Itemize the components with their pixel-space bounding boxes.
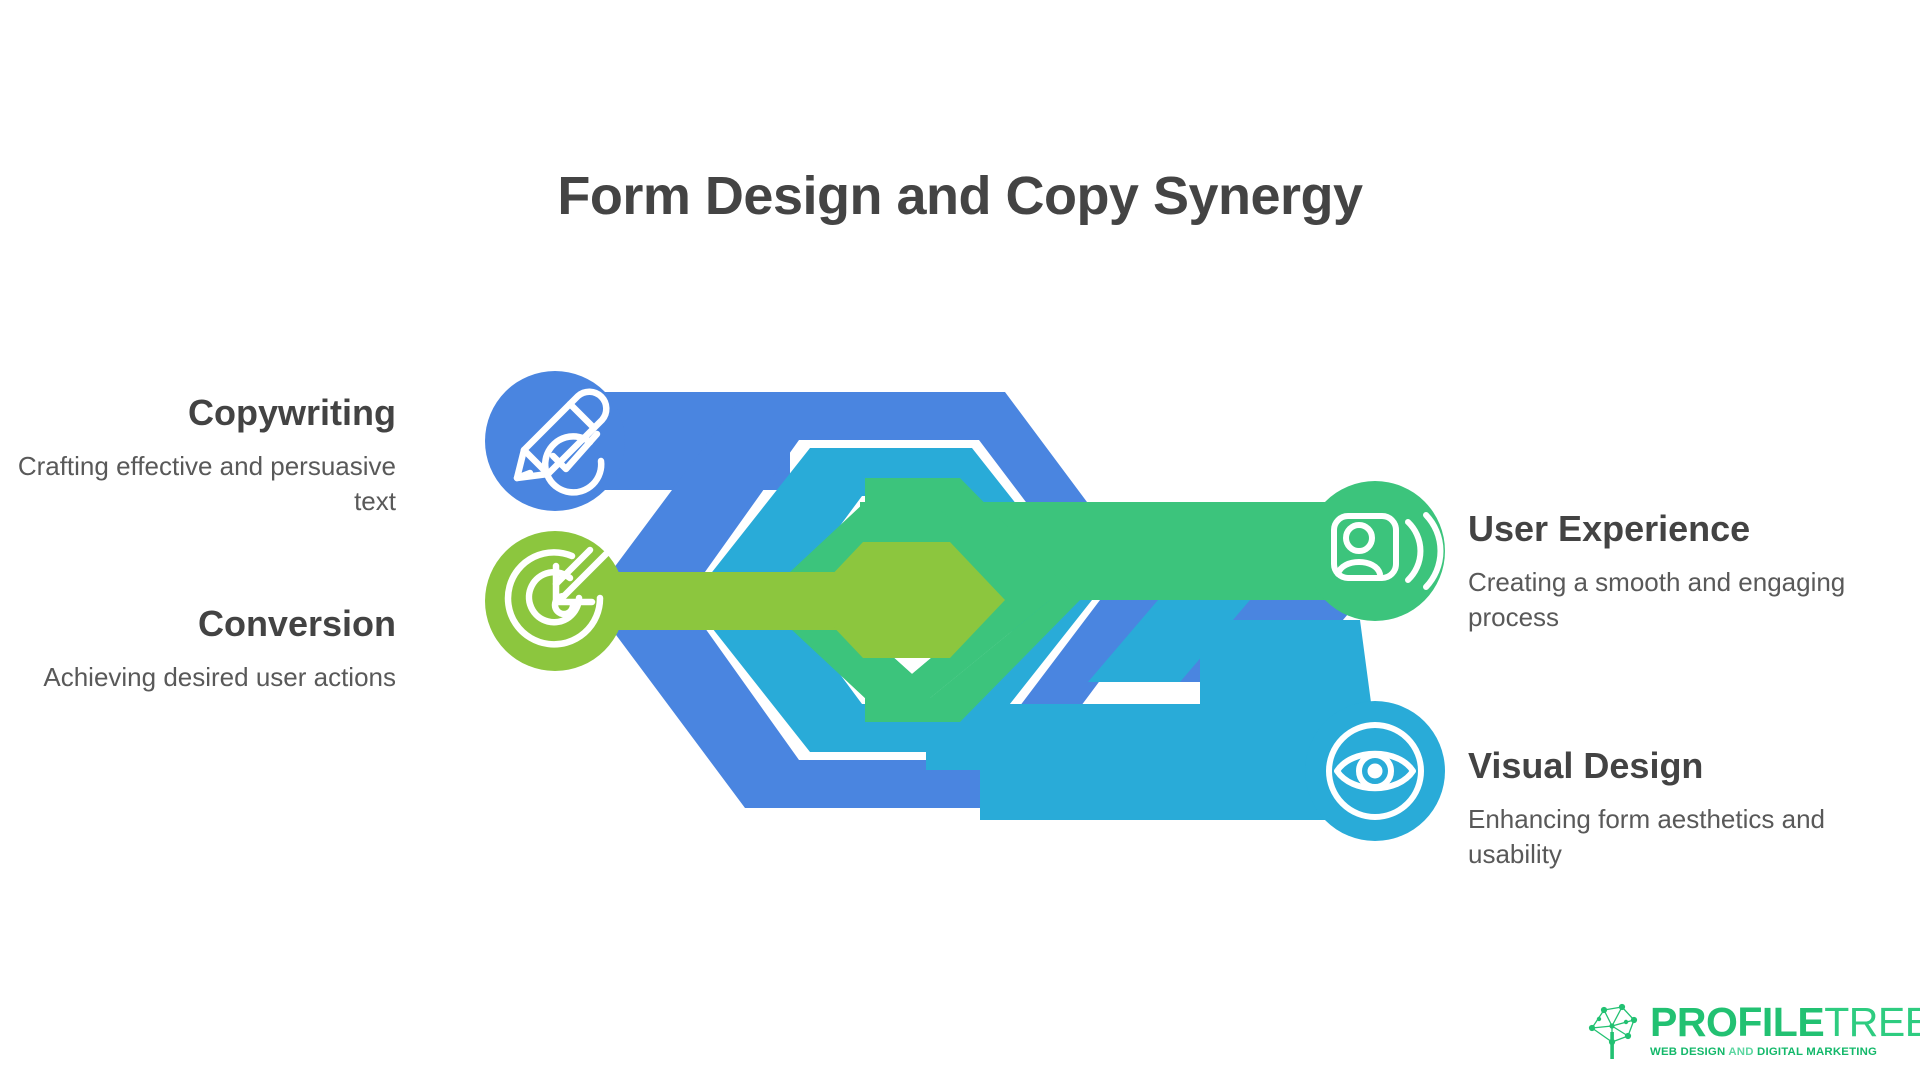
item-text-user-experience: User Experience Creating a smooth and en… <box>1468 508 1848 635</box>
logo-tagline-part1: WEB DESIGN <box>1650 1046 1725 1058</box>
icon-node-conversion[interactable] <box>485 531 625 671</box>
logo-name: PROFILETREE <box>1650 1002 1920 1042</box>
icon-circle-user-experience[interactable] <box>1305 481 1445 621</box>
icon-node-user-experience[interactable] <box>1305 481 1445 621</box>
icon-node-copywriting[interactable] <box>485 371 625 511</box>
slide-canvas: Form Design and Copy Synergy Copywriting… <box>0 0 1920 1080</box>
item-desc-conversion: Achieving desired user actions <box>16 660 396 695</box>
logo-tagline-part3: DIGITAL MARKETING <box>1757 1046 1877 1058</box>
item-text-visual-design: Visual Design Enhancing form aesthetics … <box>1468 745 1848 872</box>
item-title-conversion: Conversion <box>16 603 396 644</box>
item-desc-user-experience: Creating a smooth and engaging process <box>1468 565 1848 634</box>
logo-name-bold: PROFILE <box>1650 999 1824 1045</box>
item-text-conversion: Conversion Achieving desired user action… <box>16 603 396 695</box>
logo-tagline: WEB DESIGN AND DIGITAL MARKETING <box>1650 1046 1920 1058</box>
nested-hexagon-diagram <box>460 330 1470 870</box>
logo-wordmark: PROFILETREE WEB DESIGN AND DIGITAL MARKE… <box>1650 1002 1920 1057</box>
item-title-copywriting: Copywriting <box>16 392 396 433</box>
icon-node-visual-design[interactable] <box>1305 701 1445 841</box>
logo-tagline-part2: AND <box>1728 1046 1753 1058</box>
item-text-copywriting: Copywriting Crafting effective and persu… <box>16 392 396 519</box>
profiletree-logo: PROFILETREE WEB DESIGN AND DIGITAL MARKE… <box>1582 995 1882 1065</box>
item-title-user-experience: User Experience <box>1468 508 1848 549</box>
item-title-visual-design: Visual Design <box>1468 745 1848 786</box>
item-desc-copywriting: Crafting effective and persuasive text <box>16 449 396 518</box>
logo-name-light: TREE <box>1824 999 1920 1045</box>
item-desc-visual-design: Enhancing form aesthetics and usability <box>1468 802 1848 871</box>
page-title: Form Design and Copy Synergy <box>0 165 1920 227</box>
tree-network-icon <box>1582 998 1644 1062</box>
